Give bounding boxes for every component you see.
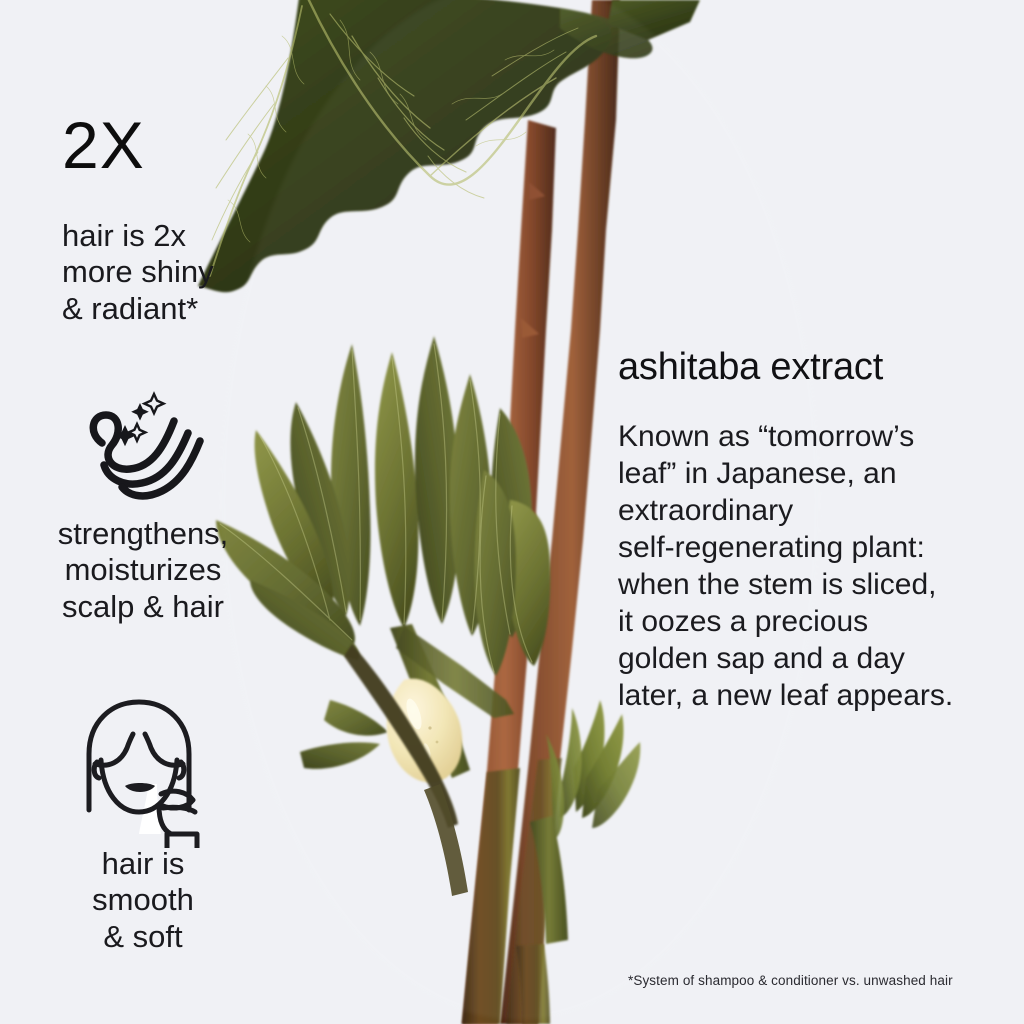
ingredient-copy-block: ashitaba extract Known as “tomorrow’s le…	[618, 347, 1008, 714]
stat-2x: 2X	[62, 112, 214, 178]
benefit-shine: 2X hair is 2x more shiny & radiant*	[62, 112, 214, 327]
woman-touching-hair-icon	[18, 688, 268, 840]
ingredient-description: Known as “tomorrow’s leaf” in Japanese, …	[618, 418, 1008, 714]
benefit-shine-label: hair is 2x more shiny & radiant*	[62, 218, 214, 327]
benefit-smooth: hair is smooth & soft	[18, 688, 268, 955]
hair-shine-waves-icon	[18, 386, 268, 506]
ingredient-heading: ashitaba extract	[618, 347, 1008, 389]
benefit-strengthens-label: strengthens, moisturizes scalp & hair	[18, 516, 268, 625]
benefit-smooth-label: hair is smooth & soft	[18, 846, 268, 955]
benefit-strengthens: strengthens, moisturizes scalp & hair	[18, 386, 268, 625]
footnote-disclaimer: *System of shampoo & conditioner vs. unw…	[628, 972, 1016, 990]
promo-graphic: 2X hair is 2x more shiny & radiant*	[0, 0, 1024, 1024]
